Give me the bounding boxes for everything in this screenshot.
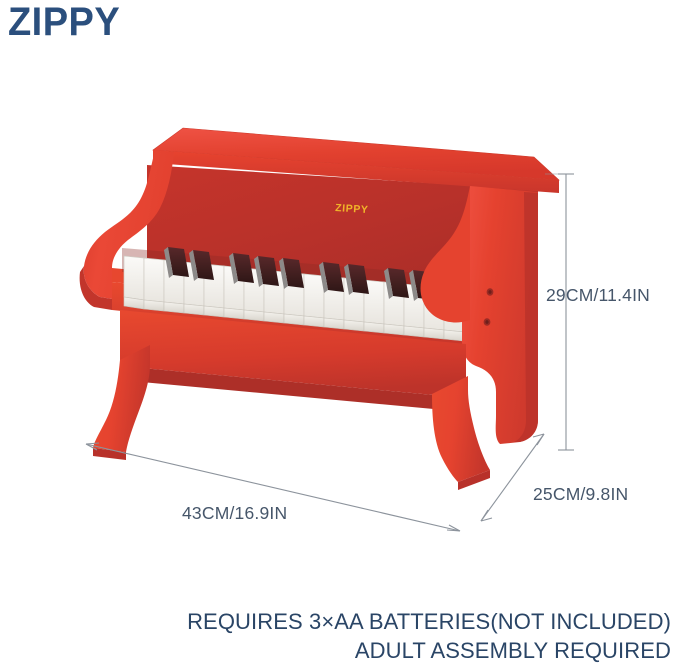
white-key-front <box>144 300 164 311</box>
screw-hole-inner <box>485 320 488 324</box>
dimension-height <box>545 174 574 450</box>
dimension-depth-label: 25CM/9.8IN <box>533 484 628 505</box>
white-key[interactable] <box>144 258 164 302</box>
white-key-front <box>444 330 464 341</box>
toy-piano-illustration: ZIPPY <box>0 0 679 671</box>
white-key-front <box>164 302 184 313</box>
white-key-front <box>364 322 384 333</box>
notice-batteries: REQUIRES 3×AA BATTERIES(NOT INCLUDED) <box>187 607 671 636</box>
dimension-depth <box>481 434 544 521</box>
dimension-width-label: 43CM/16.9IN <box>182 503 287 524</box>
white-key-front <box>244 310 264 321</box>
product-image: ZIPPY <box>0 0 679 671</box>
dimension-height-label: 29CM/11.4IN <box>546 285 650 306</box>
white-key-front <box>264 312 284 323</box>
piano-nameplate: ZIPPY <box>335 202 369 216</box>
white-key-front <box>284 314 304 325</box>
white-key-front <box>224 308 244 319</box>
left-leg <box>93 345 150 452</box>
notice-assembly: ADULT ASSEMBLY REQUIRED <box>187 636 671 665</box>
white-key-front <box>204 306 224 317</box>
footer-notices: REQUIRES 3×AA BATTERIES(NOT INCLUDED) AD… <box>187 607 671 666</box>
right-leg <box>432 376 490 482</box>
white-key-front <box>384 324 404 335</box>
white-key-front <box>184 304 204 315</box>
white-key-front <box>344 320 364 331</box>
white-key-front <box>404 326 424 337</box>
white-key-front <box>304 316 324 327</box>
white-key-front <box>324 318 344 329</box>
white-key-front <box>424 328 444 339</box>
white-key[interactable] <box>124 256 144 300</box>
screw-hole-inner <box>488 290 491 294</box>
white-key[interactable] <box>304 274 324 318</box>
